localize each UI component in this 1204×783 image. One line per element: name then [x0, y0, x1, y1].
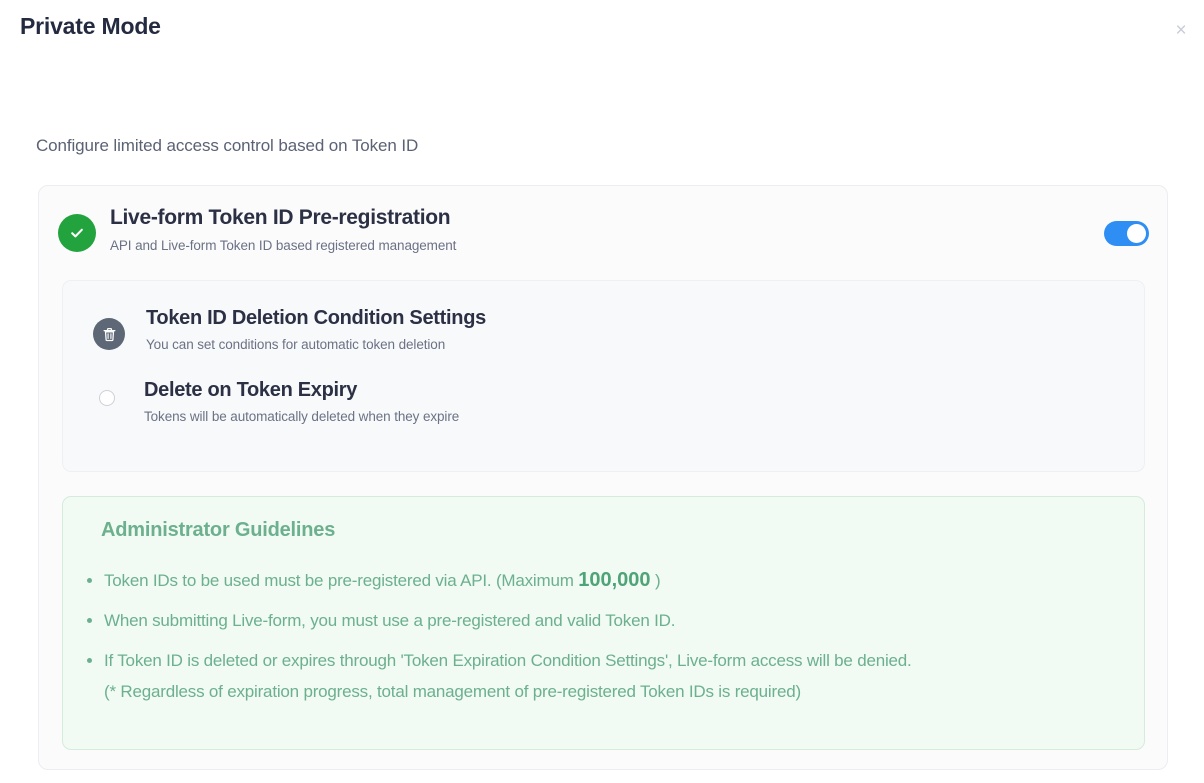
pre-registration-toggle[interactable]	[1104, 221, 1149, 246]
check-circle-icon	[58, 214, 96, 252]
guideline-note: (* Regardless of expiration progress, to…	[104, 676, 1124, 707]
deletion-settings-card: Token ID Deletion Condition Settings You…	[62, 280, 1145, 472]
guidelines-title: Administrator Guidelines	[101, 519, 335, 542]
guideline-suffix: )	[651, 571, 661, 590]
guideline-text: When submitting Live-form, you must use …	[104, 611, 675, 630]
deletion-settings-description: You can set conditions for automatic tok…	[146, 337, 445, 352]
delete-on-expiry-radio[interactable]	[99, 390, 115, 406]
delete-on-expiry-title: Delete on Token Expiry	[144, 379, 357, 402]
delete-on-expiry-description: Tokens will be automatically deleted whe…	[144, 409, 459, 424]
feature-title: Live-form Token ID Pre-registration	[110, 206, 450, 230]
list-item: If Token ID is deleted or expires throug…	[104, 645, 1124, 707]
administrator-guidelines-panel: Administrator Guidelines Token IDs to be…	[62, 496, 1145, 750]
trash-icon	[93, 318, 125, 350]
guidelines-list: Token IDs to be used must be pre-registe…	[80, 565, 1124, 716]
close-icon[interactable]: ×	[1168, 17, 1194, 43]
max-token-count: 100,000	[578, 569, 650, 591]
list-item: Token IDs to be used must be pre-registe…	[104, 565, 1124, 596]
guideline-text: If Token ID is deleted or expires throug…	[104, 651, 912, 670]
page-title: Private Mode	[20, 13, 161, 40]
list-item: When submitting Live-form, you must use …	[104, 605, 1124, 636]
feature-header-row: Live-form Token ID Pre-registration API …	[39, 186, 1167, 280]
toggle-knob	[1127, 224, 1146, 243]
guideline-text: Token IDs to be used must be pre-registe…	[104, 571, 578, 590]
feature-subtitle: API and Live-form Token ID based registe…	[110, 238, 456, 253]
intro-description: Configure limited access control based o…	[36, 136, 418, 156]
deletion-settings-title: Token ID Deletion Condition Settings	[146, 307, 486, 330]
private-mode-card: Live-form Token ID Pre-registration API …	[38, 185, 1168, 770]
modal-header: Private Mode ×	[0, 0, 1204, 60]
